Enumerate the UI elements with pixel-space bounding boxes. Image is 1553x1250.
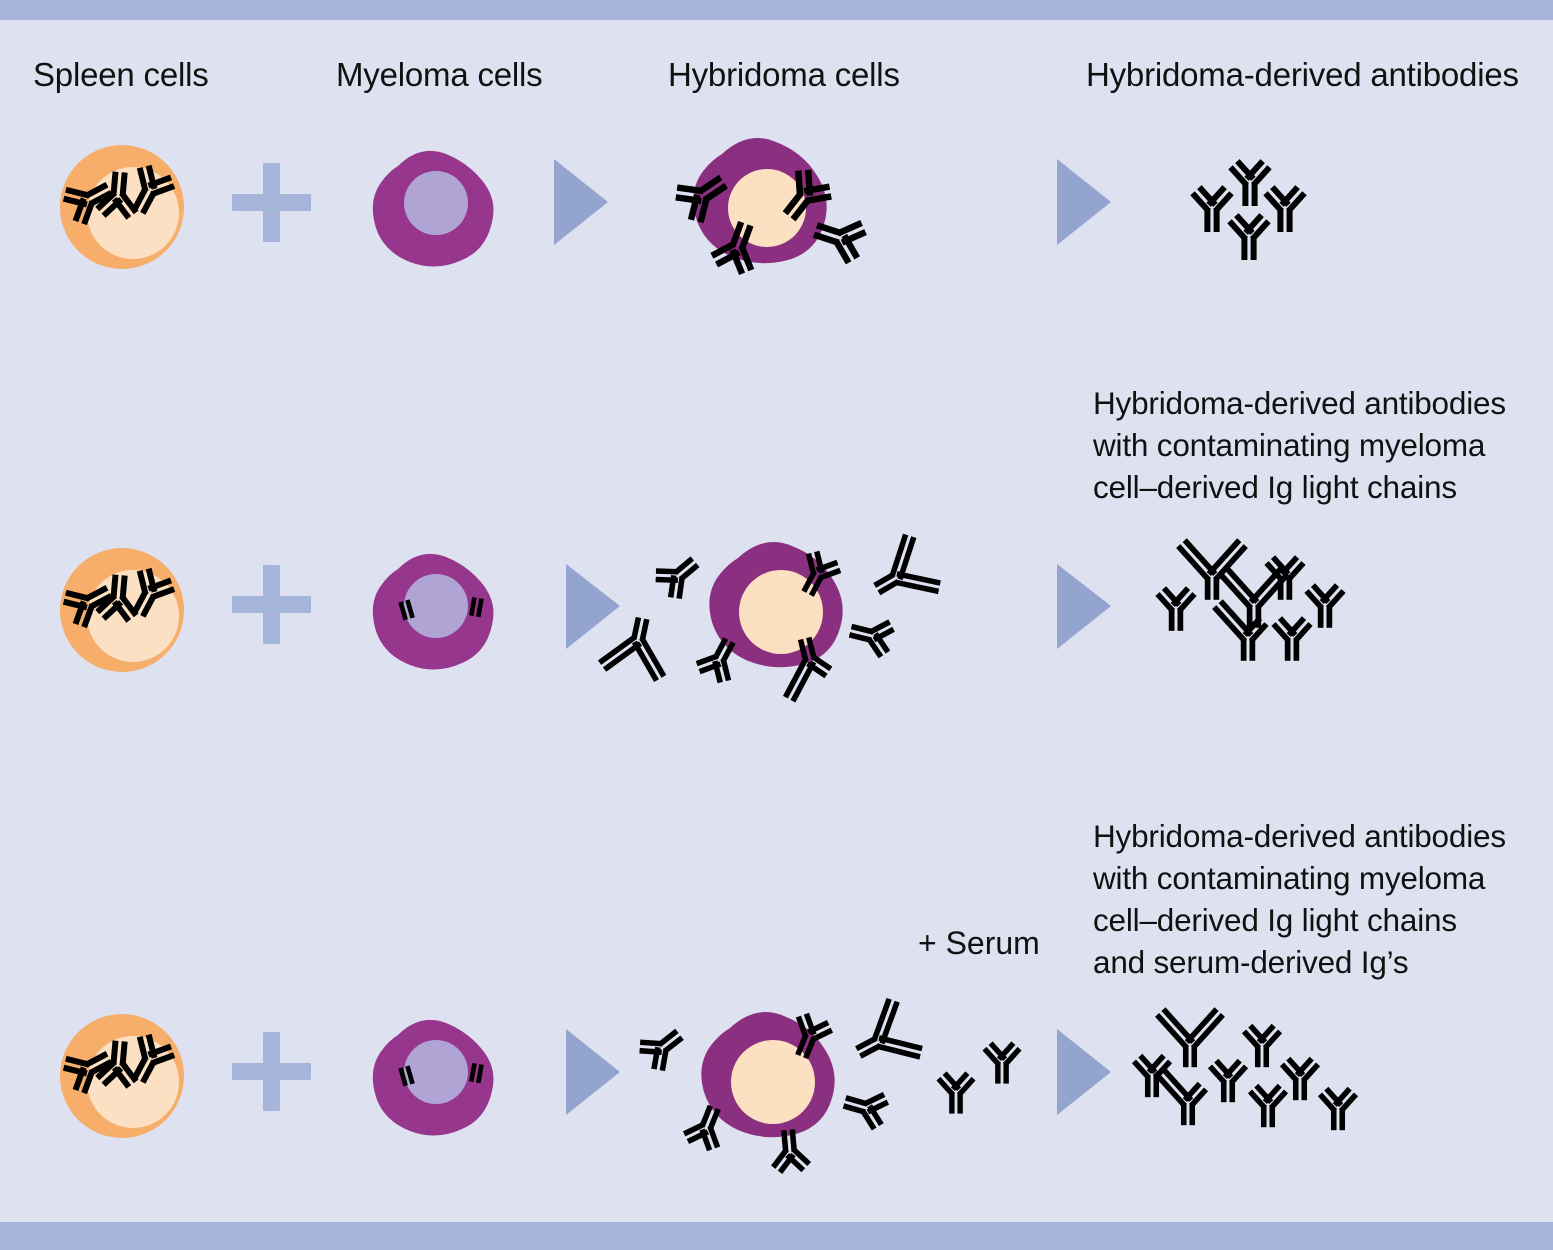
antibody [1227, 213, 1270, 260]
spleen-cell-row-2 [58, 548, 184, 672]
myeloma-cell-row-2 [373, 554, 494, 670]
hybridoma-cell-row-1 [669, 138, 871, 279]
antibody [1304, 583, 1345, 628]
antibody [1155, 586, 1196, 631]
antibody [1190, 185, 1233, 232]
antibody-with-light-chain [596, 611, 677, 684]
operator-arrow-row-1-b [1057, 159, 1111, 245]
antibody-product-row-3 [1132, 1007, 1358, 1130]
operator-plus-row-3 [232, 1032, 311, 1111]
antibody [846, 611, 898, 660]
hybridoma-cell-row-3 [633, 993, 928, 1174]
myeloma-cell-row-3 [373, 1020, 494, 1136]
operator-arrow-row-3-a [566, 1029, 620, 1115]
operator-arrow-row-1-a [554, 159, 608, 245]
antibody-with-light-chain [1155, 1007, 1225, 1067]
antibody-with-light-chain [859, 529, 946, 619]
antibody-with-light-chain [842, 993, 928, 1083]
antibody [1271, 616, 1312, 661]
antibody-product-row-1 [1190, 159, 1306, 260]
operator-plus-row-2 [232, 565, 311, 644]
antibody [1242, 1024, 1282, 1067]
antibody [1248, 1084, 1288, 1127]
antibody-serum [936, 1071, 975, 1113]
antibody-serum [1318, 1087, 1358, 1130]
antibody-serum [1208, 1059, 1248, 1102]
antibody-product-row-2 [1155, 538, 1345, 661]
myeloma-cell-row-1 [373, 151, 494, 267]
figure-canvas: Spleen cells Myeloma cells Hybridoma cel… [0, 0, 1553, 1250]
operator-arrow-row-2-a [566, 564, 620, 649]
operator-arrow-row-2-b [1057, 564, 1111, 649]
antibody [1228, 159, 1271, 206]
antibody-serum [982, 1041, 1021, 1083]
antibody [1263, 185, 1306, 232]
antibody [649, 546, 708, 605]
antibody [633, 1019, 692, 1077]
operator-plus-row-1 [232, 163, 311, 242]
spleen-cell-row-3 [58, 1014, 184, 1138]
operator-arrow-row-3-b [1057, 1029, 1111, 1115]
spleen-cell-row-1 [58, 145, 184, 269]
antibody [839, 1083, 892, 1134]
hybridoma-cell-row-2 [596, 529, 946, 705]
diagram-artwork: .ab-o rect { fill: #f97a16; } .ab-g rect… [0, 0, 1553, 1250]
serum-igs-group [936, 1041, 1021, 1113]
